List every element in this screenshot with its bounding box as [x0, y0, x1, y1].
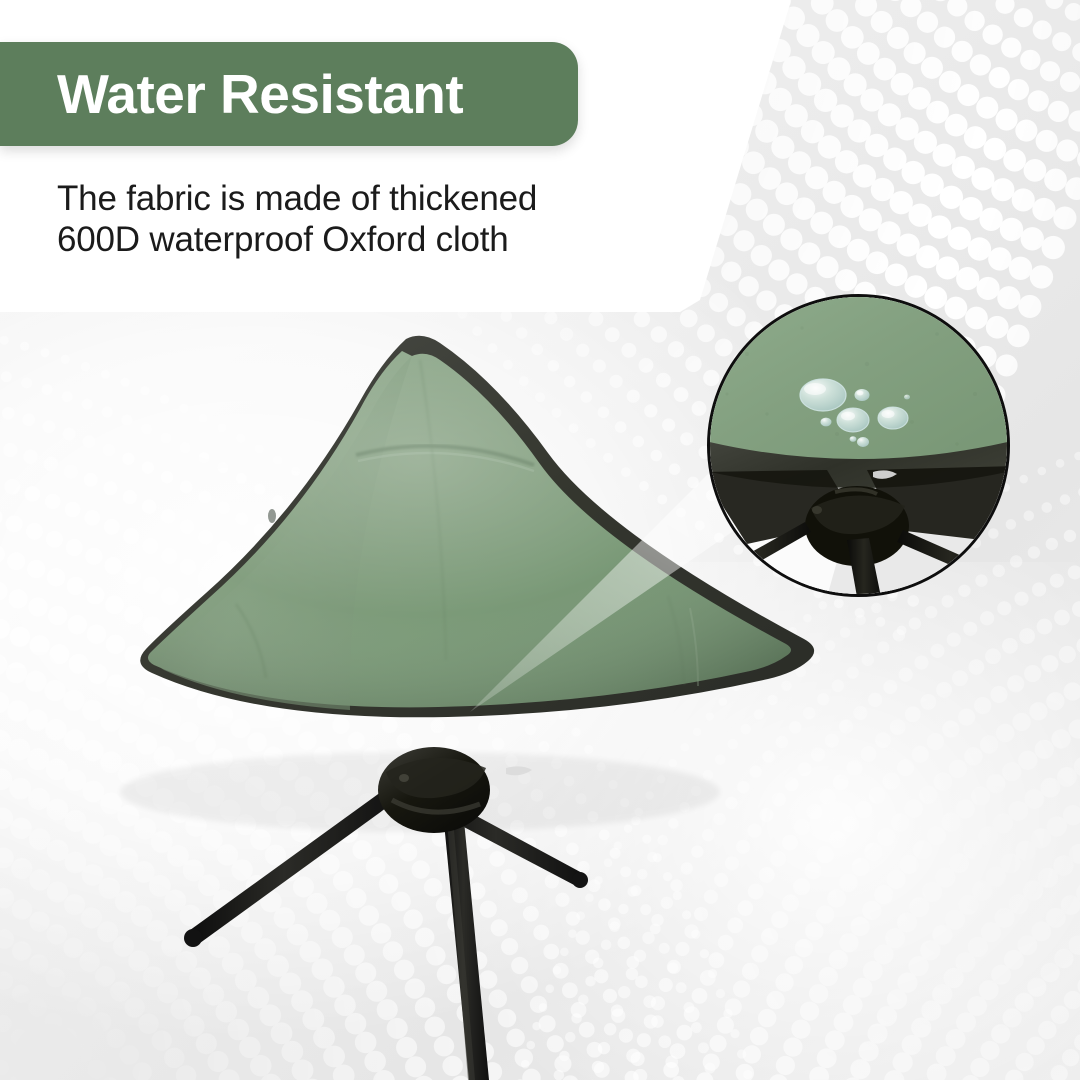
magnifier-fabric [707, 294, 1010, 462]
magnifier-content [707, 294, 1010, 597]
feature-banner: Water Resistant [0, 42, 578, 146]
magnifier-circle-water-beading [707, 294, 1010, 597]
product-feature-card: Water Resistant The fabric is made of th… [0, 0, 1080, 1080]
feature-subtitle: The fabric is made of thickened 600D wat… [57, 178, 597, 261]
stool-hub [378, 747, 490, 833]
page-title: Water Resistant [57, 67, 463, 122]
